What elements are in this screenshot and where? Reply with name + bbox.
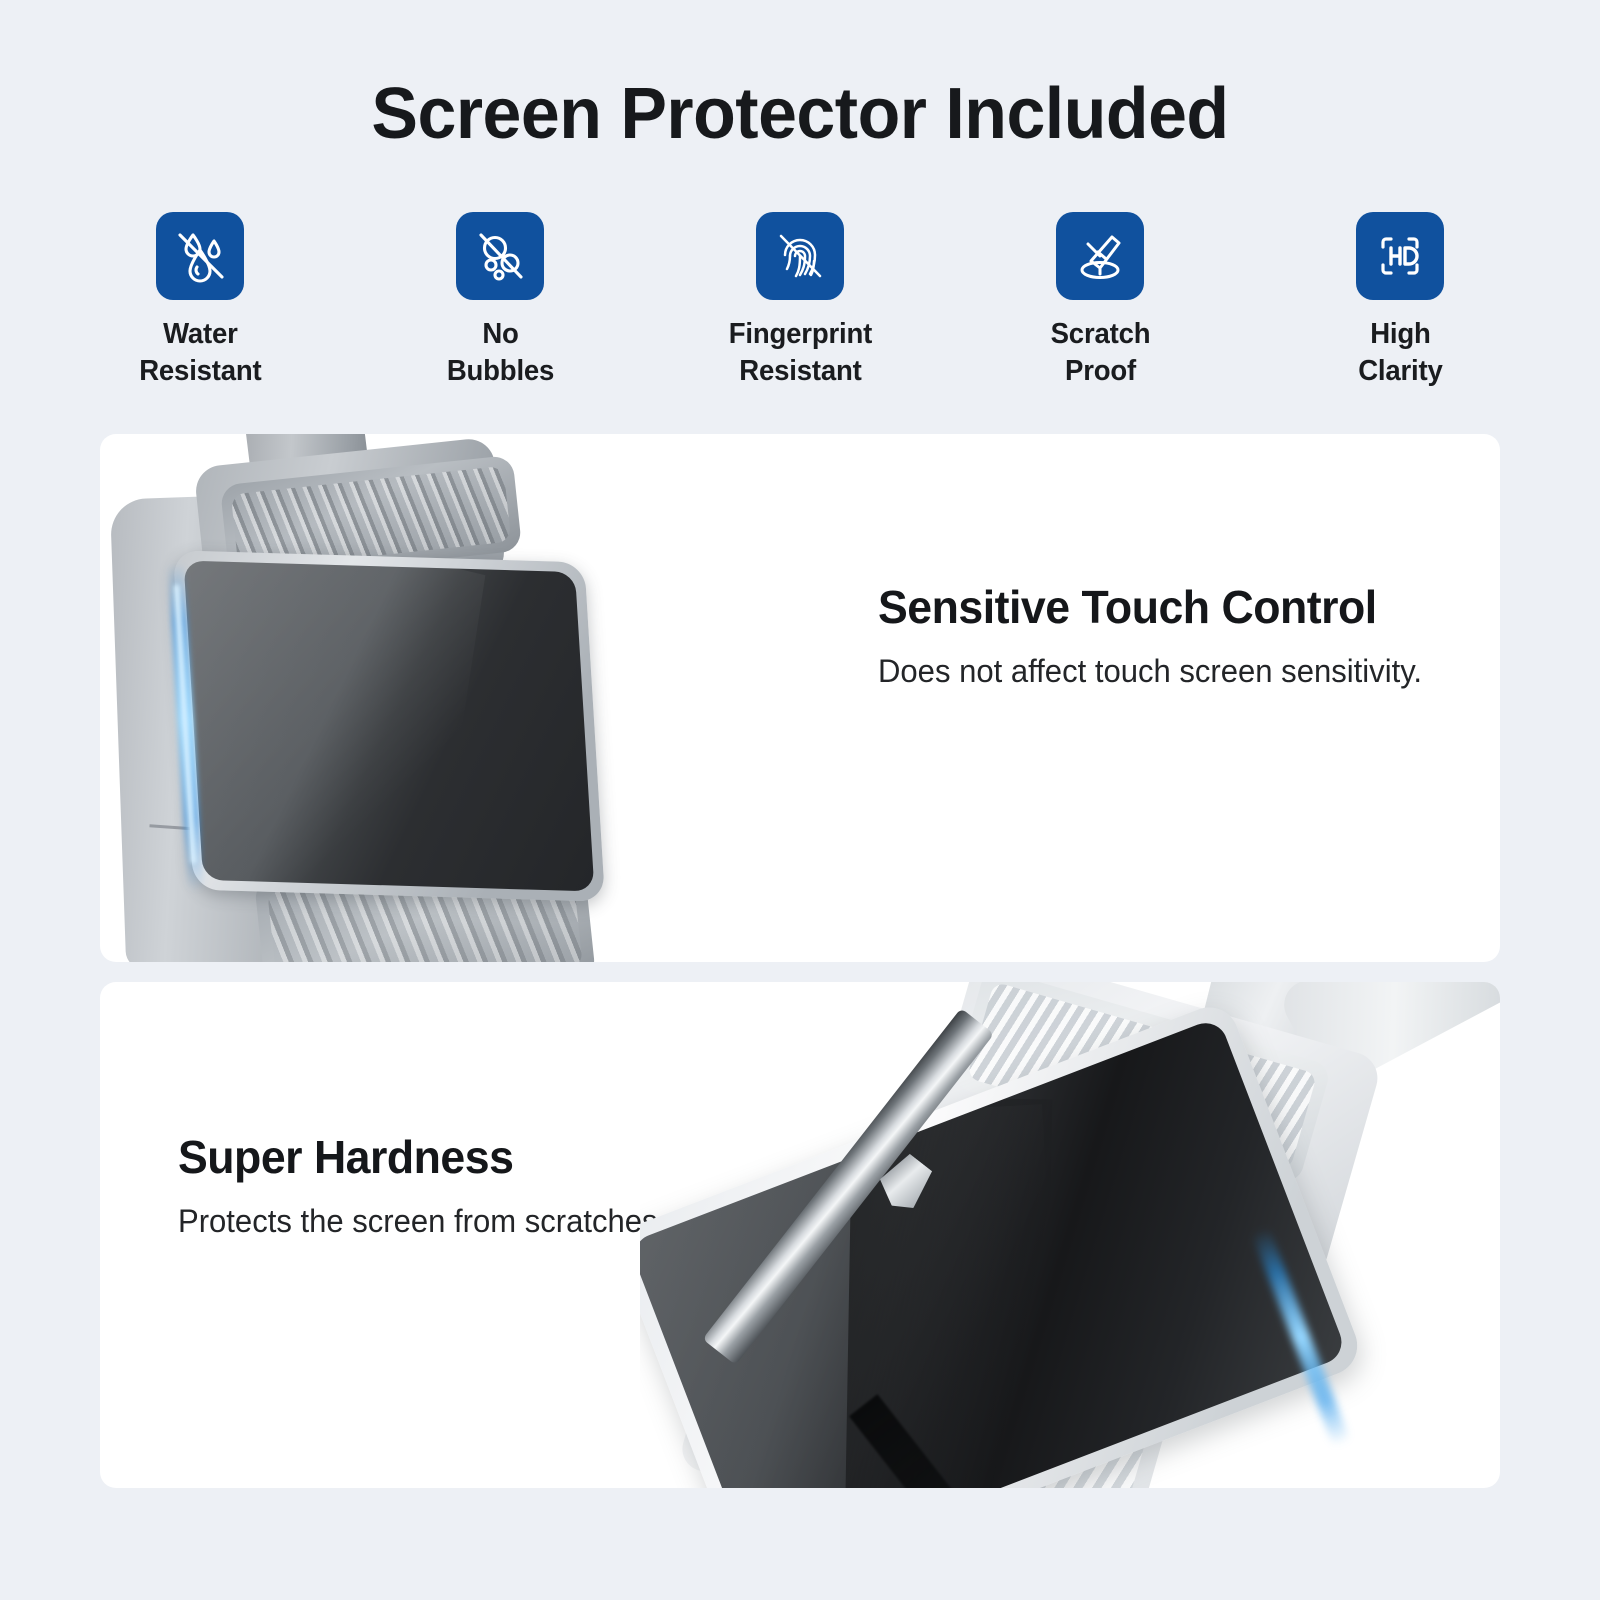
gimbal-camera-finger-touch-photo — [100, 434, 900, 962]
blade-on-surface-icon — [1056, 212, 1144, 300]
card-copy: Sensitive Touch Control Does not affect … — [878, 582, 1439, 691]
card-heading: Super Hardness — [178, 1132, 666, 1183]
screen-bezel — [173, 550, 605, 902]
feature-label: Scratch Proof — [1050, 316, 1150, 390]
feature-item-water-resistant: Water Resistant — [100, 212, 300, 390]
card-subtext: Does not affect touch screen sensitivity… — [878, 651, 1422, 691]
feature-label-line1: Water — [163, 318, 238, 350]
hd-frame-icon — [1356, 212, 1444, 300]
feature-label-line2: Bubbles — [446, 355, 553, 387]
screen-glass — [184, 560, 595, 891]
card-copy: Super Hardness Protects the screen from … — [178, 1132, 681, 1241]
feature-label-line2: Resistant — [739, 355, 861, 387]
feature-label: Fingerprint Resistant — [728, 316, 871, 390]
feature-label-line1: Scratch — [1050, 318, 1150, 350]
feature-list: Water Resistant No Bubbles — [100, 212, 1500, 390]
feature-card-super-hardness: Super Hardness Protects the screen from … — [100, 982, 1500, 1488]
feature-label-line2: Clarity — [1358, 355, 1442, 387]
gimbal-camera-chisel-scratch-photo — [640, 982, 1500, 1488]
feature-item-no-bubbles: No Bubbles — [400, 212, 600, 390]
card-heading: Sensitive Touch Control — [878, 582, 1422, 633]
feature-label: No Bubbles — [446, 316, 553, 390]
feature-label-line2: Resistant — [139, 355, 261, 387]
feature-label: Water Resistant — [139, 316, 261, 390]
fingerprint-slash-icon — [756, 212, 844, 300]
water-drop-slash-icon — [156, 212, 244, 300]
feature-label-line1: Fingerprint — [728, 318, 871, 350]
feature-label-line2: Proof — [1065, 355, 1136, 387]
feature-label-line1: High — [1370, 318, 1430, 350]
card-subtext: Protects the screen from scratches. — [178, 1201, 666, 1241]
feature-card-sensitive-touch-control: Sensitive Touch Control Does not affect … — [100, 434, 1500, 962]
page-title: Screen Protector Included — [24, 78, 1576, 150]
feature-item-scratch-proof: Scratch Proof — [1000, 212, 1200, 390]
feature-label-line1: No — [482, 318, 518, 350]
feature-item-high-clarity: High Clarity — [1300, 212, 1500, 390]
screen-glass — [640, 1017, 1348, 1488]
feature-label: High Clarity — [1358, 316, 1442, 390]
bubbles-slash-icon — [456, 212, 544, 300]
feature-item-fingerprint-resistant: Fingerprint Resistant — [700, 212, 900, 390]
glass-highlight — [184, 560, 486, 891]
